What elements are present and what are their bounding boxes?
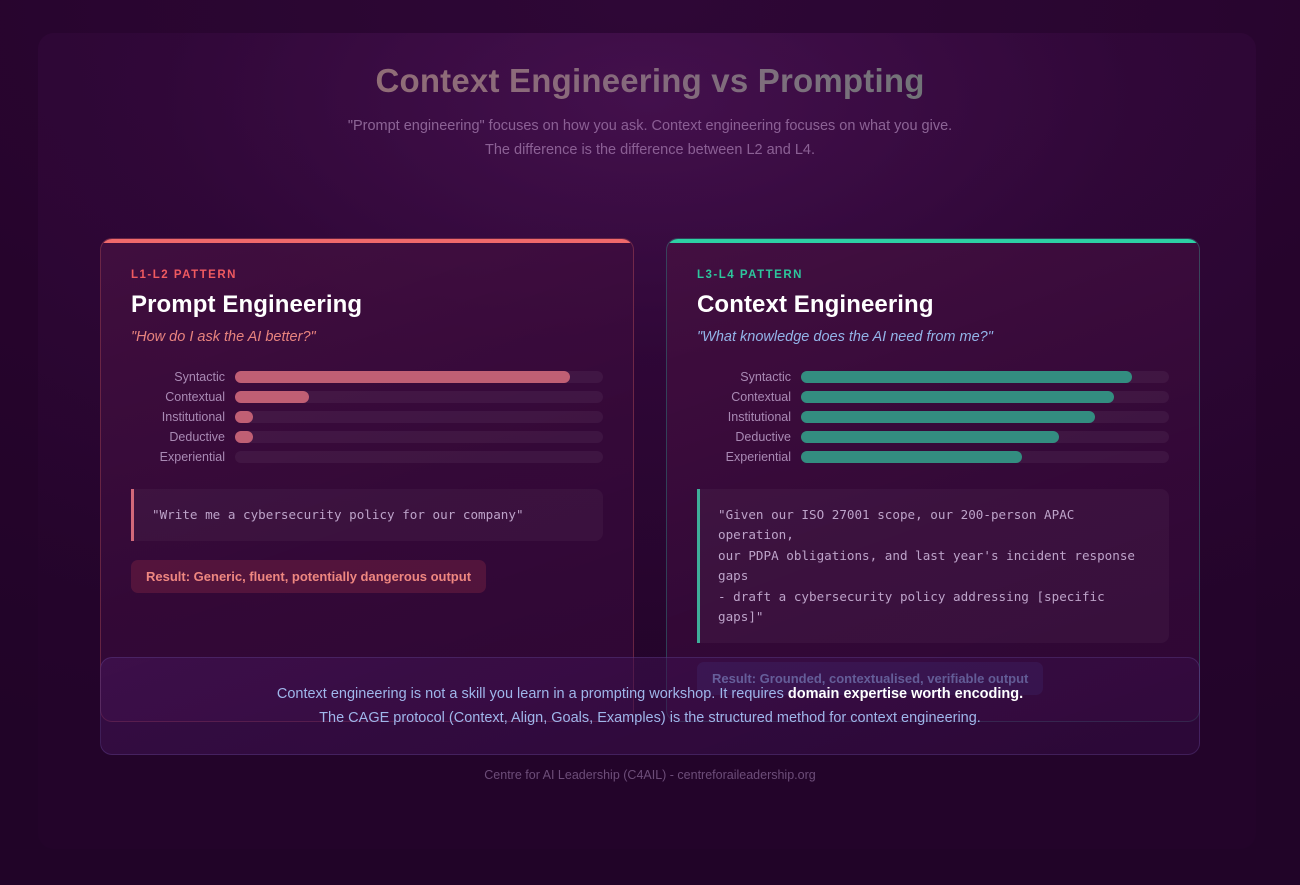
bar-row: Deductive [697,427,1169,447]
slide-stage: Context Engineering vs Prompting "Prompt… [0,0,1300,885]
bar-fill [235,431,253,443]
bar-label: Syntactic [131,370,235,384]
callout-text-normal: Context engineering is not a skill you l… [277,686,788,702]
bar-label: Experiential [131,450,235,464]
bar-row: Deductive [131,427,603,447]
bar-track [801,371,1169,383]
bar-track [235,411,603,423]
summary-callout: Context engineering is not a skill you l… [100,657,1200,755]
example-prompt: "Write me a cybersecurity policy for our… [131,489,603,541]
card-accent-bar [667,239,1199,243]
card-question: "How do I ask the AI better?" [131,329,603,345]
bar-row: Institutional [131,407,603,427]
bar-fill [801,431,1059,443]
card-accent-bar [101,239,633,243]
example-prompt: "Given our ISO 27001 scope, our 200-pers… [697,489,1169,643]
bar-track [801,411,1169,423]
pattern-label: L3-L4 PATTERN [697,269,1169,281]
bar-row: Contextual [131,387,603,407]
bar-track [235,391,603,403]
bar-label: Contextual [131,390,235,404]
card-title: Context Engineering [697,291,1169,319]
bar-label: Institutional [131,410,235,424]
bar-chart-context-engineering: Syntactic Contextual Institutional [697,367,1169,467]
bar-row: Institutional [697,407,1169,427]
callout-text-emphasis: domain expertise worth encoding. [788,686,1023,702]
callout-line-1: Context engineering is not a skill you l… [131,682,1169,706]
bar-row: Syntactic [131,367,603,387]
bar-label: Experiential [697,450,801,464]
bar-track [235,451,603,463]
bar-label: Contextual [697,390,801,404]
bar-track [235,431,603,443]
bar-track [801,431,1169,443]
card-title: Prompt Engineering [131,291,603,319]
bar-label: Deductive [131,430,235,444]
bar-fill [801,371,1132,383]
result-badge: Result: Generic, fluent, potentially dan… [131,560,486,593]
bar-row: Experiential [697,447,1169,467]
bar-label: Syntactic [697,370,801,384]
card-question: "What knowledge does the AI need from me… [697,329,1169,345]
attribution-footer: Centre for AI Leadership (C4AIL) - centr… [0,768,1300,782]
bar-label: Deductive [697,430,801,444]
pattern-label: L1-L2 PATTERN [131,269,603,281]
bar-track [235,371,603,383]
bar-fill [235,391,309,403]
bar-fill [235,411,253,423]
bar-fill [801,411,1095,423]
bar-row: Experiential [131,447,603,467]
bar-track [801,451,1169,463]
callout-line-2: The CAGE protocol (Context, Align, Goals… [131,706,1169,730]
comparison-cards: L1-L2 PATTERN Prompt Engineering "How do… [100,238,1200,722]
bar-chart-prompt-engineering: Syntactic Contextual Institutional [131,367,603,467]
bar-row: Contextual [697,387,1169,407]
card-prompt-engineering: L1-L2 PATTERN Prompt Engineering "How do… [100,238,634,722]
card-context-engineering: L3-L4 PATTERN Context Engineering "What … [666,238,1200,722]
bar-label: Institutional [697,410,801,424]
bar-fill [235,371,570,383]
bar-fill [801,391,1114,403]
bar-fill [801,451,1022,463]
bar-track [801,391,1169,403]
bar-row: Syntactic [697,367,1169,387]
